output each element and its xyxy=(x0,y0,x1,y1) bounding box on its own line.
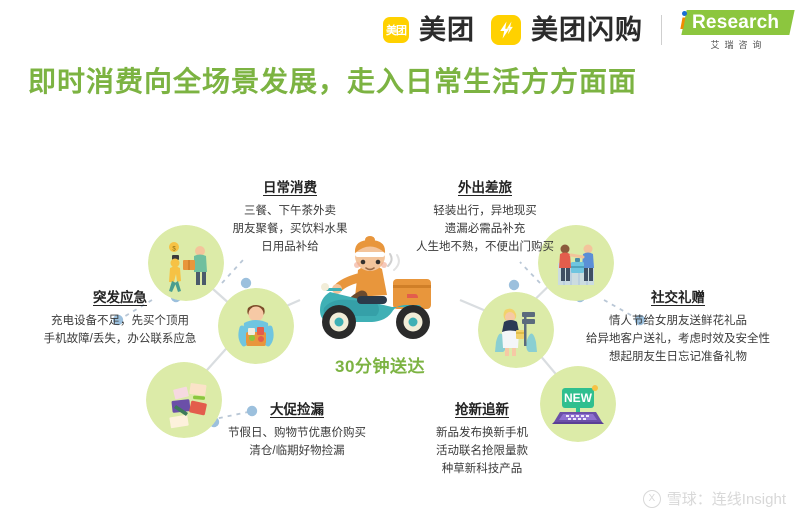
group-line: 轻装出行，异地现买 xyxy=(385,203,585,221)
group-line: 三餐、下午茶外卖 xyxy=(195,203,385,221)
group-daily-consumption: 日常消费 三餐、下午茶外卖 朋友聚餐，买饮料水果 日用品补给 xyxy=(195,176,385,256)
page-title: 即时消费向全场景发展，走入日常生活方方面面 xyxy=(28,60,637,100)
group-line: 种草新科技产品 xyxy=(392,461,572,479)
group-line: 想起朋友生日忘记准备礼物 xyxy=(562,349,794,367)
iresearch-name: Research xyxy=(692,13,779,32)
gift-delivery-illustration xyxy=(478,292,554,368)
group-line: 日用品补给 xyxy=(195,239,385,257)
grocery-shopper-illustration xyxy=(218,288,294,364)
group-line: 情人节给女朋友送鲜花礼品 xyxy=(562,313,794,331)
group-business-travel: 外出差旅 轻装出行，异地现买 遗漏必需品补充 人生地不熟，不便出门购买 xyxy=(385,176,585,256)
brand-header: 美团 美团 美团闪购 i Research 艾瑞咨询 xyxy=(383,8,792,52)
group-line: 给异地客户送礼，考虑时效及安全性 xyxy=(562,331,794,349)
shangou-wordmark: 美团闪购 xyxy=(531,17,643,44)
infographic-canvas: 美团 美团 美团闪购 i Research 艾瑞咨询 即时消费向全场景发展，走入… xyxy=(0,0,800,519)
group-line: 活动联名抢限量款 xyxy=(392,443,572,461)
group-social-gifting: 社交礼赠 情人节给女朋友送鲜花礼品 给异地客户送礼，考虑时效及安全性 想起朋友生… xyxy=(562,286,794,366)
watermark-text: 雪球：连线Insight xyxy=(667,488,786,509)
group-line: 节假日、购物节优惠价购买 xyxy=(198,425,396,443)
group-heading: 大促捡漏 xyxy=(198,398,396,418)
group-promo-bargain: 大促捡漏 节假日、购物节优惠价购买 清仓/临期好物捡漏 xyxy=(198,398,396,461)
group-heading: 日常消费 xyxy=(195,176,385,196)
group-emergency: 突发应急 充电设备不足，先买个顶用 手机故障/丢失，办公联系应急 xyxy=(14,286,226,349)
group-line: 充电设备不足，先买个顶用 xyxy=(14,313,226,331)
group-heading: 抢新追新 xyxy=(392,398,572,418)
header-divider xyxy=(661,15,662,45)
iresearch-logo-top: i Research xyxy=(680,10,792,36)
meituan-wordmark: 美团 xyxy=(419,17,475,44)
xueqiu-logo-icon: X xyxy=(643,490,661,508)
watermark: X 雪球：连线Insight xyxy=(643,488,786,509)
group-line: 朋友聚餐，买饮料水果 xyxy=(195,221,385,239)
group-line: 新品发布换新手机 xyxy=(392,425,572,443)
group-line: 清仓/临期好物捡漏 xyxy=(198,443,396,461)
group-line: 人生地不熟，不便出门购买 xyxy=(385,239,585,257)
group-heading: 社交礼赠 xyxy=(562,286,794,306)
meituan-logo-badge: 美团 xyxy=(383,17,409,43)
iresearch-green-bar: Research xyxy=(681,10,794,35)
group-new-product: 抢新追新 新品发布换新手机 活动联名抢限量款 种草新科技产品 xyxy=(392,398,572,478)
iresearch-dot-icon xyxy=(682,11,687,16)
group-heading: 突发应急 xyxy=(14,286,226,306)
group-heading: 外出差旅 xyxy=(385,176,585,196)
iresearch-logo: i Research 艾瑞咨询 xyxy=(680,10,792,51)
meituan-badge-text: 美团 xyxy=(386,22,406,38)
group-line: 手机故障/丢失，办公联系应急 xyxy=(14,331,226,349)
delivery-time-label: 30分钟送达 xyxy=(300,352,460,377)
lightning-bolt-icon xyxy=(491,15,521,45)
group-line: 遗漏必需品补充 xyxy=(385,221,585,239)
iresearch-subtitle: 艾瑞咨询 xyxy=(705,38,766,51)
